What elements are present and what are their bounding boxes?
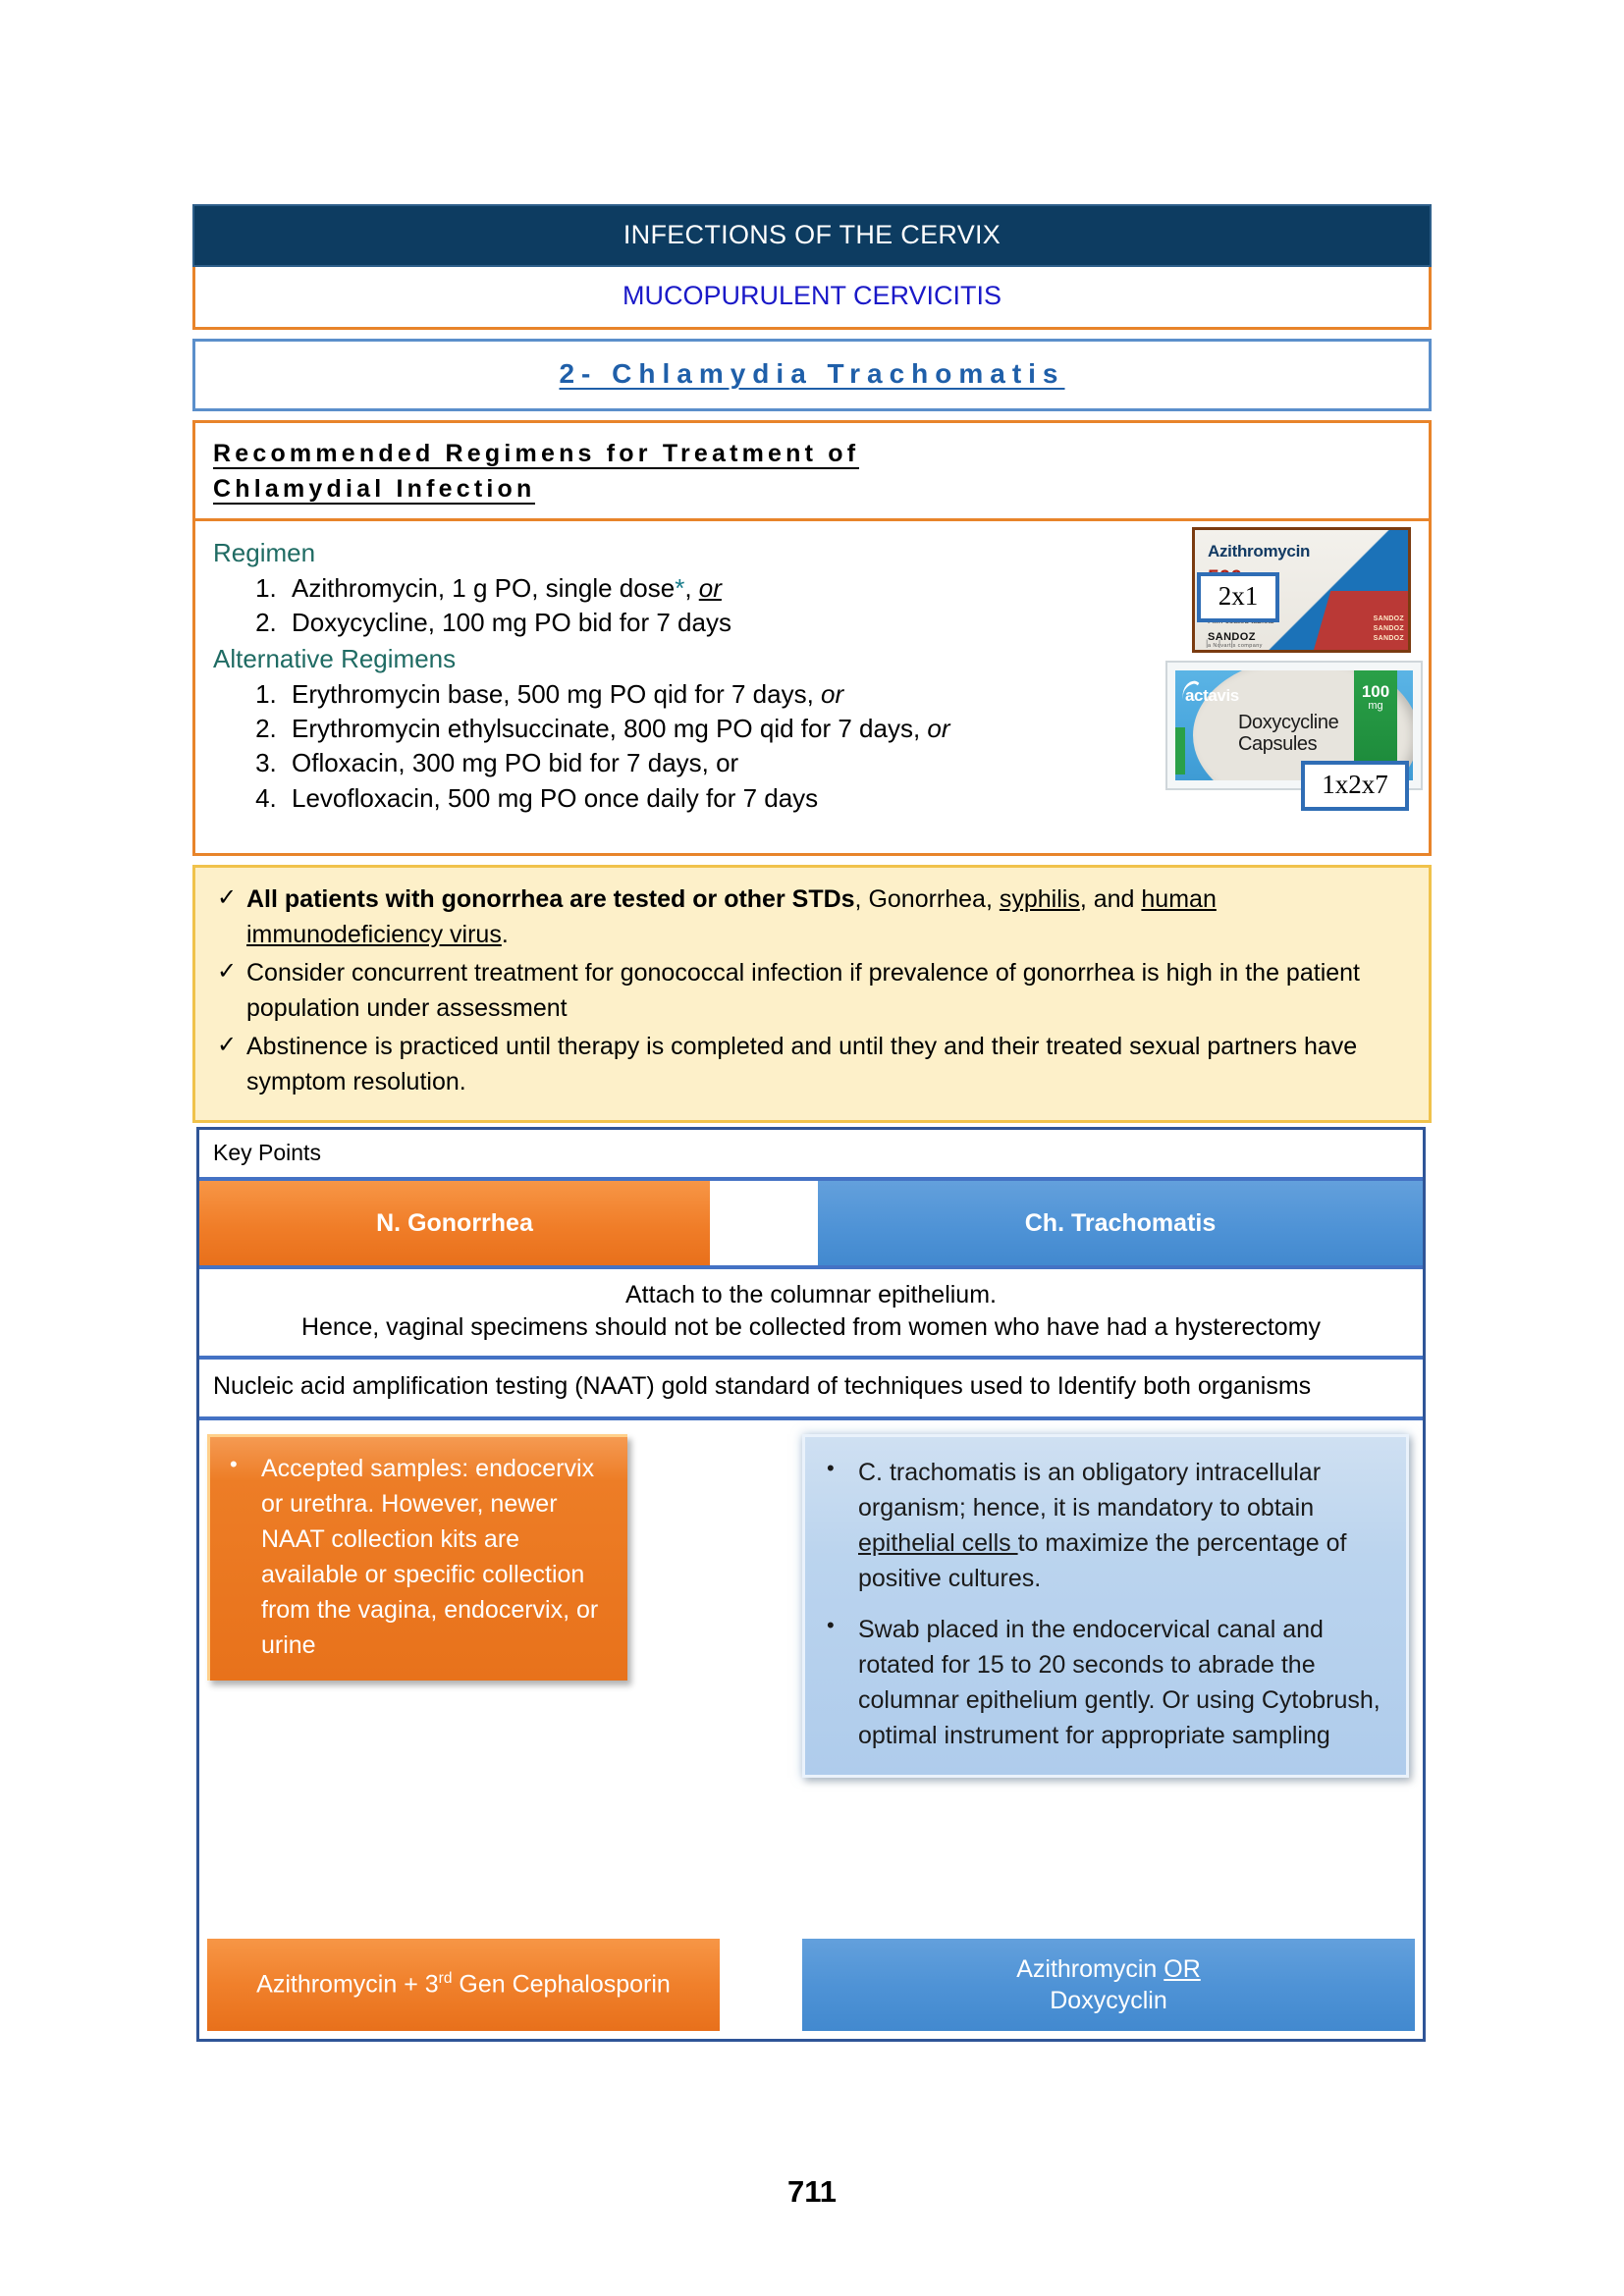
naat-row: Nucleic acid amplification testing (NAAT… bbox=[199, 1360, 1423, 1420]
note-item: ✓All patients with gonorrhea are tested … bbox=[213, 881, 1403, 952]
azithromycin-quantity-badge: 2x1 bbox=[1197, 572, 1279, 622]
doxycycline-brand: actavis bbox=[1185, 686, 1239, 706]
trachomatis-bullet-underline: epithelial cells bbox=[858, 1529, 1018, 1557]
checkmark-icon: ✓ bbox=[217, 881, 237, 916]
note-middle-text: , and bbox=[1080, 885, 1142, 913]
column-gap bbox=[728, 1428, 802, 1939]
gonorrhea-treatment-text: Azithromycin + 3rd Gen Cephalosporin bbox=[256, 1970, 671, 1999]
alt-regimen-text: Ofloxacin, 300 mg PO bid for 7 days, or bbox=[292, 748, 738, 777]
left-column: •Accepted samples: endocervix or urethra… bbox=[199, 1428, 728, 1939]
trachomatis-bullet-pre: Swab placed in the endocervical canal an… bbox=[858, 1616, 1380, 1749]
alt-regimen-or: or bbox=[821, 679, 843, 709]
gonorrhea-bullet-item: •Accepted samples: endocervix or urethra… bbox=[222, 1451, 612, 1663]
note-bold-text: All patients with gonorrhea are tested o… bbox=[246, 885, 855, 913]
gonorrhea-treatment-sup: rd bbox=[439, 1970, 453, 1987]
gonorrhea-bullet-list: •Accepted samples: endocervix or urethra… bbox=[222, 1451, 612, 1663]
azithromycin-barcode: | | | bbox=[1206, 638, 1237, 648]
doxycycline-name: Doxycycline Capsules bbox=[1238, 712, 1338, 756]
alt-regimen-text: Erythromycin base, 500 mg PO qid for 7 d… bbox=[292, 679, 821, 709]
footnote-asterisk: * bbox=[675, 573, 684, 603]
doxycycline-name-line1: Doxycycline bbox=[1238, 712, 1338, 733]
gonorrhea-treatment-footer: Azithromycin + 3rd Gen Cephalosporin bbox=[207, 1939, 720, 2031]
note-item: ✓Abstinence is practiced until therapy i… bbox=[213, 1029, 1403, 1099]
key-points-title: Key Points bbox=[199, 1130, 1423, 1181]
regimen-item-text: Doxycycline, 100 mg PO bid for 7 days bbox=[292, 608, 731, 637]
note-text: Abstinence is practiced until therapy is… bbox=[246, 1033, 1357, 1095]
gonorrhea-treatment-tail: Gen Cephalosporin bbox=[452, 1971, 670, 1999]
regimens-heading-text: Recommended Regimens for Treatment of Ch… bbox=[213, 440, 859, 505]
shared-row-line1: Attach to the columnar epithelium. bbox=[209, 1279, 1413, 1311]
gonorrhea-samples-box: •Accepted samples: endocervix or urethra… bbox=[207, 1434, 627, 1681]
doxycycline-strength-value: 100 bbox=[1354, 683, 1397, 700]
doxycycline-name-line2: Capsules bbox=[1238, 733, 1317, 755]
footer-gap bbox=[720, 1939, 802, 2031]
trachomatis-treatment-footer: Azithromycin ORDoxycyclin bbox=[802, 1939, 1415, 2031]
note-tail-text: . bbox=[502, 921, 509, 948]
checkmark-icon: ✓ bbox=[217, 1029, 237, 1063]
trachomatis-info-box: •C. trachomatis is an obligatory intrace… bbox=[802, 1434, 1409, 1778]
section-heading-banner: 2- Chlamydia Trachomatis bbox=[192, 339, 1432, 411]
doxycycline-strength-unit: mg bbox=[1354, 700, 1397, 712]
notes-callout: ✓All patients with gonorrhea are tested … bbox=[192, 865, 1432, 1123]
doxycycline-quantity-badge: 1x2x7 bbox=[1301, 761, 1409, 811]
column-header-n-gonorrhea: N. Gonorrhea bbox=[199, 1181, 710, 1265]
key-points-table: Key Points N. Gonorrhea Ch. Trachomatis … bbox=[196, 1127, 1426, 2042]
trachomatis-treatment-text: Azithromycin ORDoxycyclin bbox=[1016, 1953, 1201, 2017]
note-underline-syphilis: syphilis bbox=[1000, 885, 1080, 913]
subtitle-banner: MUCOPURULENT CERVICITIS bbox=[192, 267, 1432, 330]
trachomatis-bullet-pre: C. trachomatis is an obligatory intracel… bbox=[858, 1459, 1321, 1522]
regimen-item-or: or bbox=[699, 573, 722, 603]
page-number: 711 bbox=[0, 2174, 1624, 2210]
key-points-body: •Accepted samples: endocervix or urethra… bbox=[199, 1420, 1423, 1939]
regimens-heading-line1: Recommended Regimens for Treatment of bbox=[213, 440, 859, 467]
notes-list: ✓All patients with gonorrhea are tested … bbox=[213, 881, 1403, 1099]
alt-regimen-text: Erythromycin ethylsuccinate, 800 mg PO q… bbox=[292, 714, 927, 743]
top-content-stack: INFECTIONS OF THE CERVIX MUCOPURULENT CE… bbox=[192, 204, 1432, 1123]
key-points-header-row: N. Gonorrhea Ch. Trachomatis bbox=[199, 1181, 1423, 1269]
shared-attachment-row: Attach to the columnar epithelium. Hence… bbox=[199, 1269, 1423, 1360]
note-plain-text: , Gonorrhea, bbox=[855, 885, 1000, 913]
note-text: Consider concurrent treatment for gonoco… bbox=[246, 959, 1360, 1022]
gonorrhea-bullet-text: Accepted samples: endocervix or urethra.… bbox=[261, 1455, 598, 1659]
trachomatis-bullet-list: •C. trachomatis is an obligatory intrace… bbox=[819, 1455, 1386, 1753]
trachomatis-treatment-or: OR bbox=[1164, 1955, 1201, 1983]
gonorrhea-treatment-pre: Azithromycin + 3 bbox=[256, 1971, 439, 1999]
trachomatis-treatment-pre: Azithromycin bbox=[1016, 1955, 1164, 1983]
regimen-item-text: Azithromycin, 1 g PO, single dose bbox=[292, 573, 675, 603]
bullet-dot-icon: • bbox=[827, 1453, 835, 1484]
document-page: INFECTIONS OF THE CERVIX MUCOPURULENT CE… bbox=[0, 0, 1624, 2296]
column-header-ch-trachomatis: Ch. Trachomatis bbox=[818, 1181, 1423, 1265]
right-column: •C. trachomatis is an obligatory intrace… bbox=[802, 1428, 1423, 1939]
azithromycin-name: Azithromycin bbox=[1208, 542, 1310, 561]
doxycycline-strength-tab: 100 mg bbox=[1354, 670, 1397, 761]
alt-regimen-text: Levofloxacin, 500 mg PO once daily for 7… bbox=[292, 783, 818, 813]
trachomatis-bullet-item: •C. trachomatis is an obligatory intrace… bbox=[819, 1455, 1386, 1596]
recommended-regimens-panel: Recommended Regimens for Treatment of Ch… bbox=[192, 420, 1432, 856]
regimens-heading-line2: Chlamydial Infection bbox=[213, 475, 535, 503]
bullet-dot-icon: • bbox=[827, 1610, 835, 1641]
section-heading-text: 2- Chlamydia Trachomatis bbox=[559, 358, 1064, 389]
azithromycin-red-panel-text: SANDOZSANDOZSANDOZ bbox=[1314, 614, 1404, 644]
alt-regimen-or: or bbox=[927, 714, 949, 743]
note-item: ✓Consider concurrent treatment for gonoc… bbox=[213, 955, 1403, 1026]
regimens-heading: Recommended Regimens for Treatment of Ch… bbox=[195, 423, 1429, 521]
trachomatis-bullet-item: •Swab placed in the endocervical canal a… bbox=[819, 1612, 1386, 1753]
regimen-item-comma: , bbox=[684, 573, 698, 603]
doxycycline-green-edge bbox=[1175, 727, 1185, 774]
key-points-footer-row: Azithromycin + 3rd Gen Cephalosporin Azi… bbox=[199, 1939, 1423, 2039]
page-title-banner: INFECTIONS OF THE CERVIX bbox=[192, 204, 1432, 267]
bullet-dot-icon: • bbox=[230, 1449, 238, 1480]
regimens-body: Regimen Azithromycin, 1 g PO, single dos… bbox=[195, 521, 1429, 853]
header-gap bbox=[710, 1181, 818, 1265]
shared-row-line2: Hence, vaginal specimens should not be c… bbox=[209, 1311, 1413, 1344]
checkmark-icon: ✓ bbox=[217, 955, 237, 989]
trachomatis-treatment-line2: Doxycyclin bbox=[1050, 1987, 1166, 2014]
